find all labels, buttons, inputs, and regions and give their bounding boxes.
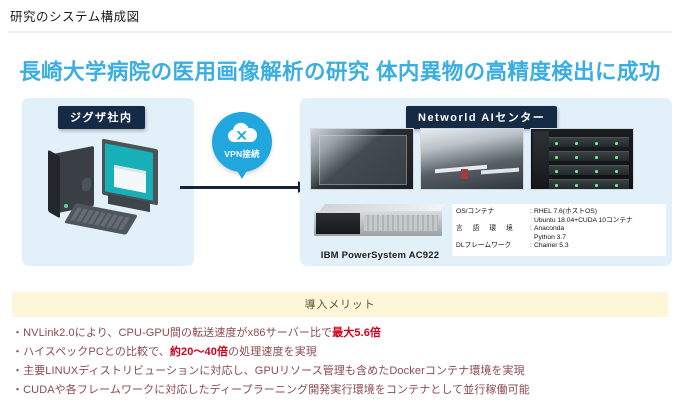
glass-wall-shape: [319, 135, 407, 185]
spec-value: Anaconda: [534, 225, 662, 234]
spec-value: RHEL 7.6(ホストOS): [534, 208, 662, 217]
left-panel-label: ジグザ社内: [58, 106, 145, 129]
pc-tower-side: [48, 150, 60, 219]
caption-bar: 研究のシステム構成図: [0, 0, 680, 31]
server-illustration: [312, 202, 448, 246]
merit-item: ・ハイスペックPCとの比較で、約20〜40倍の処理速度を実現: [12, 343, 668, 362]
spec-key: OS/コンテナ: [456, 208, 530, 217]
spec-key: 言語環境: [456, 225, 530, 234]
vpn-badge-pointer: [234, 166, 250, 179]
cloud-vpn-icon: [224, 122, 260, 144]
connector-arrow-line: [180, 186, 302, 189]
server-bezel: [316, 213, 360, 234]
spec-key: DLフレームワーク: [456, 242, 530, 251]
caption-text: 研究のシステム構成図: [10, 6, 140, 25]
spec-row: Ubuntu 18.04+CUDA 10コンテナ: [456, 217, 662, 226]
rack-unit-3: [549, 165, 629, 175]
server-vent-grille: [364, 215, 438, 231]
server-caption: IBM PowerSystem AC922: [300, 250, 460, 261]
merit-text: ・CUDAや各フレームワークに対応したディープラーニング開発実行環境をコンテナと…: [12, 384, 530, 396]
pc-led-icon: [64, 204, 68, 208]
merit-item: ・主要LINUXディストリビューションに対応し、GPUリソース管理も含めたDoc…: [12, 362, 668, 381]
rack-unit-1: [549, 137, 629, 147]
merit-text: ・NVLink2.0により、CPU-GPU間の転送速度がx86サーバー比で: [12, 327, 332, 339]
diagram-area: ジグザ社内 VPN接続 Networld AIセンタ: [0, 92, 680, 282]
datacenter-entrance-photo: [310, 128, 414, 190]
merit-item: ・CUDAや各フレームワークに対応したディープラーニング開発実行環境をコンテナと…: [12, 381, 668, 400]
merit-text: ・主要LINUXディストリビューションに対応し、GPUリソース管理も含めたDoc…: [12, 365, 525, 377]
merits-heading: 導入メリット: [12, 292, 668, 317]
datacenter-photo-strip: [310, 128, 634, 190]
spec-key: [456, 217, 530, 226]
merit-text: ・ハイスペックPCとの比較で、: [12, 346, 170, 358]
chair-shape: [461, 169, 468, 179]
merit-highlight: 最大5.6倍: [332, 327, 381, 339]
system-diagram-page: 研究のシステム構成図 長崎大学病院の医用画像解析の研究 体内異物の高精度検出に成…: [0, 0, 680, 420]
spec-row: OS/コンテナ : RHEL 7.6(ホストOS): [456, 208, 662, 217]
spec-value: Ubuntu 18.04+CUDA 10コンテナ: [534, 217, 662, 226]
spec-value: Chainer 5.3: [534, 242, 662, 251]
merit-highlight: 約20〜40倍: [170, 346, 228, 358]
merit-item: ・NVLink2.0により、CPU-GPU間の転送速度がx86サーバー比で最大5…: [12, 324, 668, 343]
desktop-pc-illustration: [46, 136, 176, 248]
server-rack-closeup-photo: [530, 128, 634, 190]
vpn-badge-label: VPN接続: [212, 148, 272, 160]
right-panel-label: Networld AIセンター: [406, 106, 557, 129]
spec-row: DLフレームワーク : Chainer 5.3: [456, 242, 662, 251]
merit-text-post: の処理速度を実現: [228, 346, 317, 358]
spec-key-text: 言語環境: [456, 225, 523, 234]
spec-row: 言語環境 : Anaconda: [456, 225, 662, 234]
rack-unit-4: [549, 179, 629, 189]
page-title: 長崎大学病院の医用画像解析の研究 体内異物の高精度検出に成功: [0, 55, 680, 86]
spec-value: Python 3.7: [534, 234, 662, 243]
datacenter-aisle-photo: [420, 128, 524, 190]
merits-list: ・NVLink2.0により、CPU-GPU間の転送速度がx86サーバー比で最大5…: [12, 324, 668, 400]
spec-table: OS/コンテナ : RHEL 7.6(ホストOS) Ubuntu 18.04+C…: [452, 204, 666, 256]
merits-section: 導入メリット ・NVLink2.0により、CPU-GPU間の転送速度がx86サー…: [12, 292, 668, 400]
header-divider: [8, 31, 672, 33]
rack-unit-2: [549, 151, 629, 161]
rack-column-shape: [533, 131, 549, 189]
